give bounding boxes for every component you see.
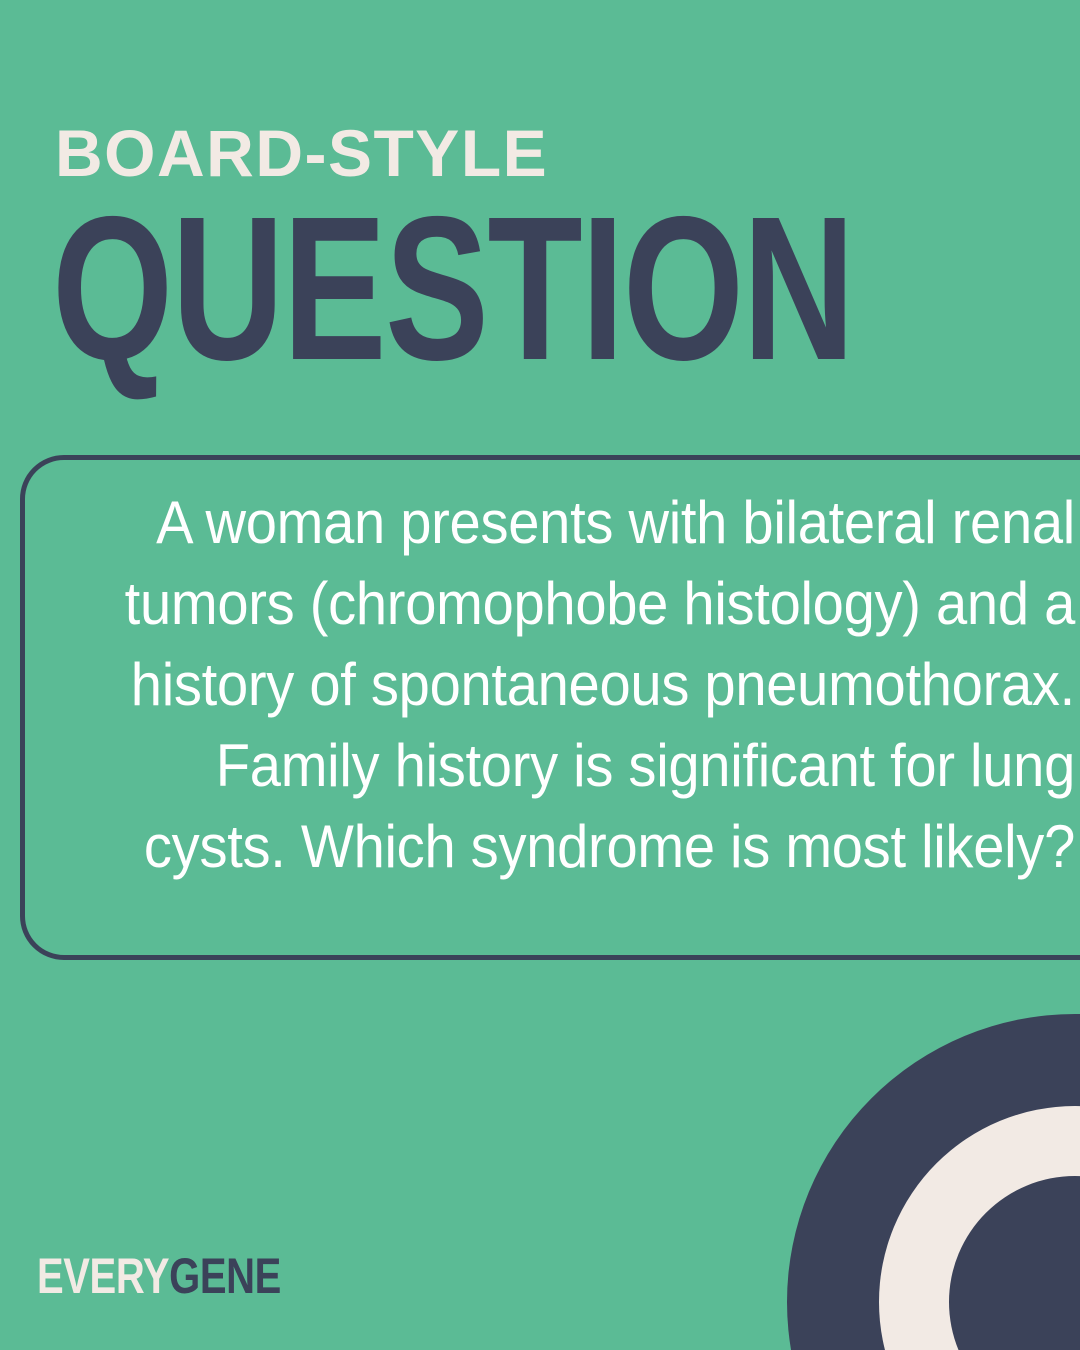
deco-outer-ring-circle xyxy=(787,1014,1080,1350)
brand-logo-every: EVERY xyxy=(37,1248,169,1304)
question-card: A woman presents with bilateral renal tu… xyxy=(20,455,1080,960)
deco-inner-circle xyxy=(949,1176,1080,1350)
poster-canvas: BOARD-STYLE QUESTION A woman presents wi… xyxy=(0,0,1080,1350)
deco-cream-ring-circle xyxy=(879,1106,1080,1350)
brand-logo-gene: GENE xyxy=(169,1248,281,1304)
question-body-text: A woman presents with bilateral renal tu… xyxy=(103,482,1075,887)
brand-logo: EVERYGENE xyxy=(37,1251,281,1301)
page-title: QUESTION xyxy=(52,189,854,389)
